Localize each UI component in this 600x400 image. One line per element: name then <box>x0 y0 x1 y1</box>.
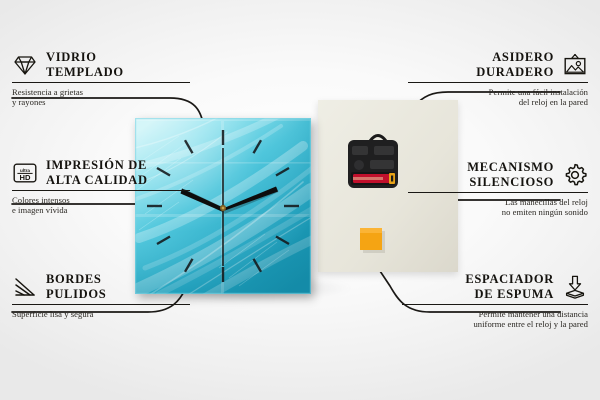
feature-title-line2: PULIDOS <box>46 287 106 302</box>
gear-icon <box>562 162 588 188</box>
feature-vidrio-templado: VIDRIO TEMPLADO Resistencia a grietas y … <box>12 50 190 108</box>
feature-desc-line2: no emiten ningún sonido <box>408 207 588 218</box>
feature-title-line1: ASIDERO <box>476 50 554 65</box>
feature-desc-line2: e imagen vívida <box>12 205 190 216</box>
feature-title-line1: BORDES <box>46 272 106 287</box>
quartz-movement-icon <box>348 136 398 189</box>
feature-asidero-duradero: ASIDERO DURADERO Permite una fácil insta… <box>408 50 588 108</box>
hd-label: HD <box>20 173 31 182</box>
feature-rule <box>12 304 190 305</box>
feature-desc-line1: Colores intensos <box>12 195 190 206</box>
feature-title-line1: VIDRIO <box>46 50 124 65</box>
feature-title-line2: TEMPLADO <box>46 65 124 80</box>
feature-rule <box>402 304 588 305</box>
feature-title-line2: DURADERO <box>476 65 554 80</box>
feature-desc-line2: uniforme entre el reloj y la pared <box>402 319 588 330</box>
foam-spacer-part <box>360 228 385 253</box>
wall-hanging-icon <box>562 52 588 78</box>
feature-desc-line2: y rayones <box>12 97 190 108</box>
feature-mecanismo-silencioso: MECANISMO SILENCIOSO Las manecillas del … <box>408 160 588 218</box>
feature-bordes-pulidos: BORDES PULIDOS Superficie lisa y segura <box>12 272 190 319</box>
foam-spacer-icon <box>562 274 588 300</box>
ultra-hd-icon: ultra HD <box>12 160 38 186</box>
feature-title-line1: IMPRESIÓN DE <box>46 158 148 173</box>
feature-espaciador-de-espuma: ESPACIADOR DE ESPUMA Permite mantener un… <box>402 272 588 330</box>
feature-desc-line1: Permite una fácil instalación <box>408 87 588 98</box>
feature-desc-line1: Las manecillas del reloj <box>408 197 588 208</box>
feature-title-line2: ALTA CALIDAD <box>46 173 148 188</box>
feature-title-line1: MECANISMO <box>467 160 554 175</box>
feature-impresion-alta-calidad: ultra HD IMPRESIÓN DE ALTA CALIDAD Color… <box>12 158 190 216</box>
feature-title-line2: DE ESPUMA <box>465 287 554 302</box>
polished-edges-icon <box>12 274 38 300</box>
feature-desc-line1: Superficie lisa y segura <box>12 309 190 320</box>
diamond-icon <box>12 52 38 78</box>
feature-title-line2: SILENCIOSO <box>467 175 554 190</box>
feature-rule <box>12 82 190 83</box>
infographic-canvas: VIDRIO TEMPLADO Resistencia a grietas y … <box>0 0 600 400</box>
feature-desc-line1: Resistencia a grietas <box>12 87 190 98</box>
feature-title-line1: ESPACIADOR <box>465 272 554 287</box>
feature-rule <box>408 82 588 83</box>
feature-desc-line2: del reloj en la pared <box>408 97 588 108</box>
feature-rule <box>12 190 190 191</box>
feature-rule <box>408 192 588 193</box>
feature-desc-line1: Permite mantener una distancia <box>402 309 588 320</box>
